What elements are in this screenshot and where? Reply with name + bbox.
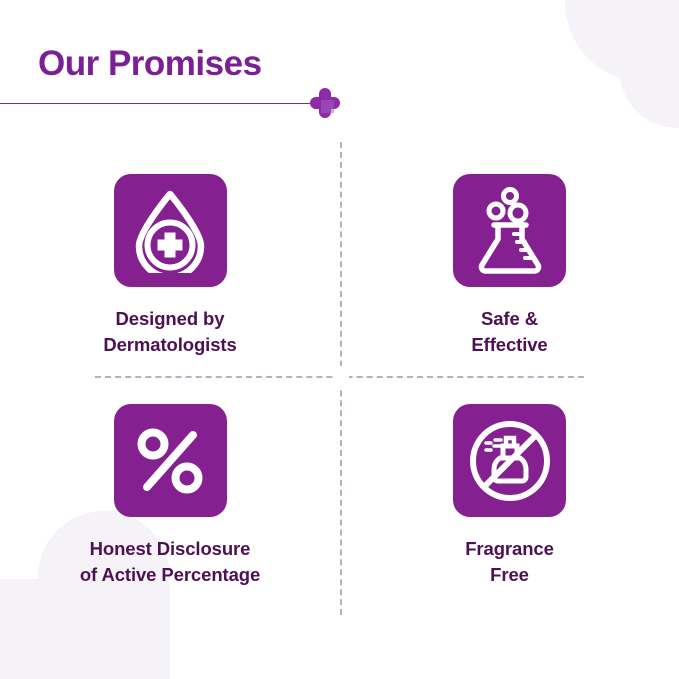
plus-cross-icon <box>308 86 342 120</box>
promise-item-fragrance-free: Fragrance Free <box>340 376 679 622</box>
header: Our Promises <box>0 0 679 130</box>
title-underline-rule <box>0 103 310 104</box>
icon-tile-designed-by-dermatologists <box>114 174 227 287</box>
promise-label: Safe & Effective <box>471 306 547 357</box>
promises-infographic: Our Promises <box>0 0 679 679</box>
promise-label: Designed by Dermatologists <box>103 306 236 357</box>
promise-label: Fragrance Free <box>465 536 554 587</box>
no-fragrance-bottle-icon <box>467 418 553 504</box>
promise-item-designed-by-dermatologists: Designed by Dermatologists <box>0 142 340 376</box>
lab-flask-bubbles-icon <box>471 187 549 275</box>
icon-tile-safe-and-effective <box>453 174 566 287</box>
page-title: Our Promises <box>38 44 262 84</box>
promise-item-honest-disclosure: Honest Disclosure of Active Percentage <box>0 376 340 622</box>
promise-grid: Designed by Dermatologists <box>0 142 679 622</box>
icon-tile-fragrance-free <box>453 404 566 517</box>
promise-item-safe-and-effective: Safe & Effective <box>340 142 679 376</box>
water-drop-medical-cross-icon <box>130 189 210 273</box>
promise-label: Honest Disclosure of Active Percentage <box>80 536 260 587</box>
icon-tile-honest-disclosure <box>114 404 227 517</box>
percent-sign-icon <box>134 425 206 497</box>
